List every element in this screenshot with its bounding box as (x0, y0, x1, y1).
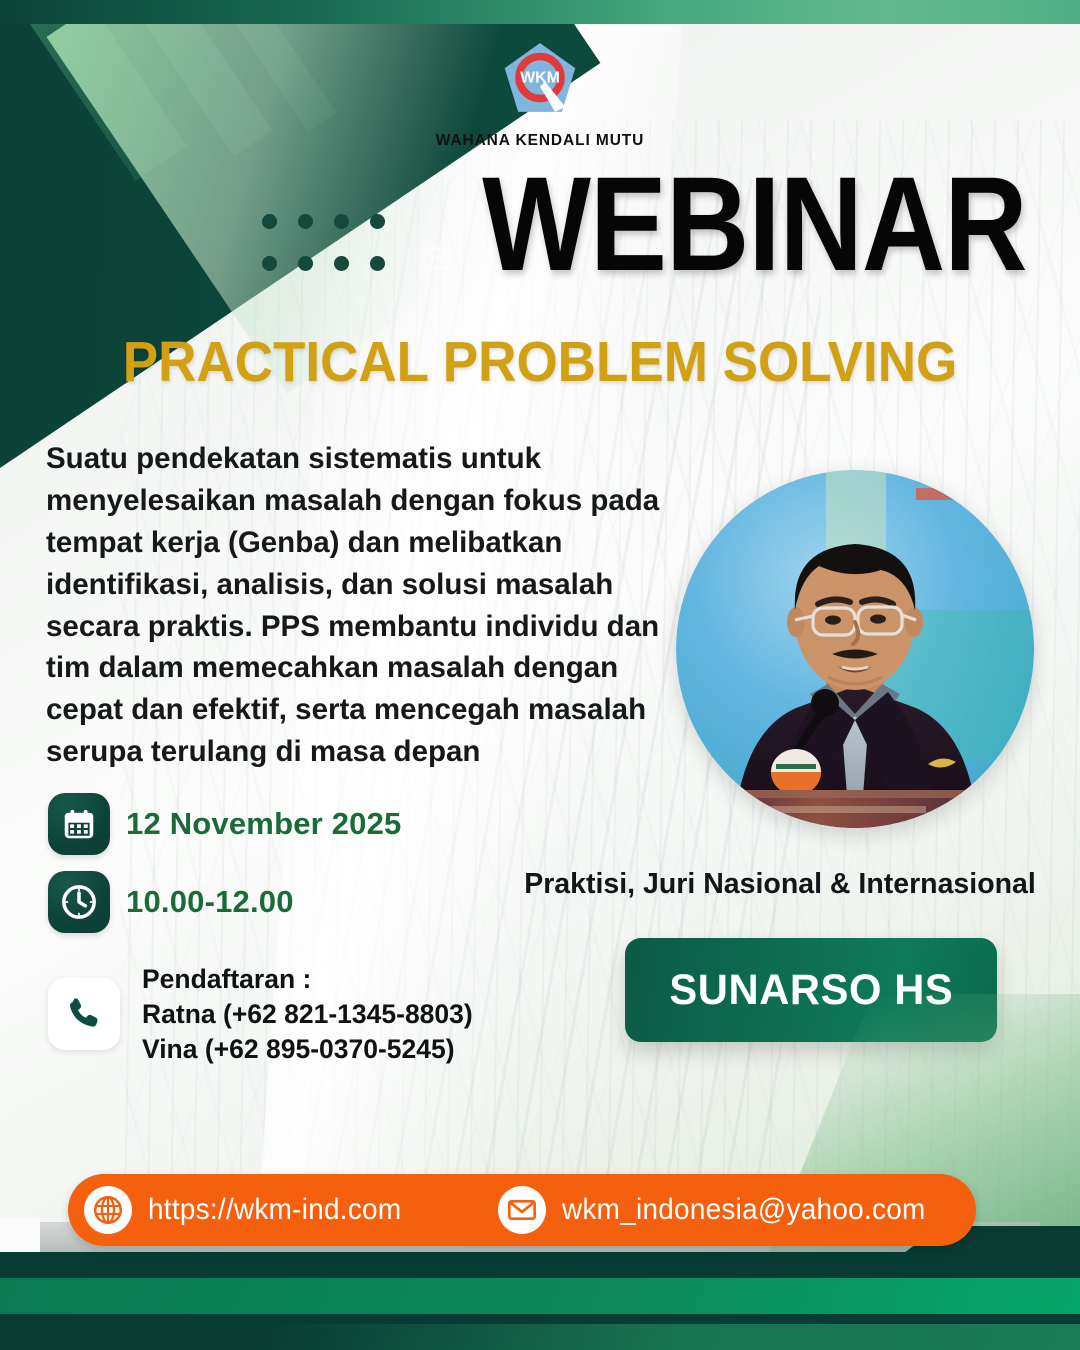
bottom-green-band-back (252, 1324, 1080, 1350)
description-text: Suatu pendekatan sistematis untuk menyel… (46, 438, 676, 773)
speaker-role: Praktisi, Juri Nasional & Internasional (500, 868, 1060, 901)
clock-icon (48, 871, 110, 933)
calendar-icon (48, 793, 110, 855)
contact-bar: https://wkm-ind.com wkm_indonesia@yahoo.… (68, 1174, 976, 1246)
bottom-green-band (0, 1278, 1080, 1314)
phone-icon (48, 978, 120, 1050)
website-url: https://wkm-ind.com (148, 1193, 401, 1227)
registration-block: Pendaftaran : Ratna (+62 821-1345-8803) … (48, 962, 473, 1067)
event-time: 10.00-12.00 (126, 884, 294, 920)
email-link[interactable]: wkm_indonesia@yahoo.com (498, 1186, 953, 1234)
webinar-poster: WKM WAHANA KENDALI MUTU WEBINAR PRACTICA… (0, 0, 1080, 1350)
page-title: WEBINAR (151, 158, 1080, 292)
top-green-strip (0, 0, 1080, 24)
bottom-left-white-notch (0, 1218, 40, 1252)
registration-details: Pendaftaran : Ratna (+62 821-1345-8803) … (142, 962, 473, 1067)
brand-logo-block: WKM WAHANA KENDALI MUTU (0, 38, 1080, 150)
page-subtitle: PRACTICAL PROBLEM SOLVING (38, 334, 1042, 391)
event-date: 12 November 2025 (126, 806, 401, 842)
registration-contact-2: Vina (+62 895-0370-5245) (142, 1032, 473, 1067)
wkm-pentagon-logo-icon: WKM (498, 38, 582, 122)
brand-name: WAHANA KENDALI MUTU (436, 132, 645, 150)
schedule-row-time: 10.00-12.00 (48, 871, 401, 933)
schedule-block: 12 November 2025 10.00-12.00 (48, 793, 401, 933)
envelope-icon (498, 1186, 546, 1234)
registration-contact-1: Ratna (+62 821-1345-8803) (142, 997, 473, 1032)
email-address: wkm_indonesia@yahoo.com (562, 1193, 926, 1227)
website-link[interactable]: https://wkm-ind.com (84, 1186, 420, 1234)
registration-heading: Pendaftaran : (142, 962, 473, 997)
schedule-row-date: 12 November 2025 (48, 793, 401, 855)
speaker-portrait (676, 470, 1034, 828)
globe-icon (84, 1186, 132, 1234)
svg-text:WKM: WKM (520, 70, 560, 87)
